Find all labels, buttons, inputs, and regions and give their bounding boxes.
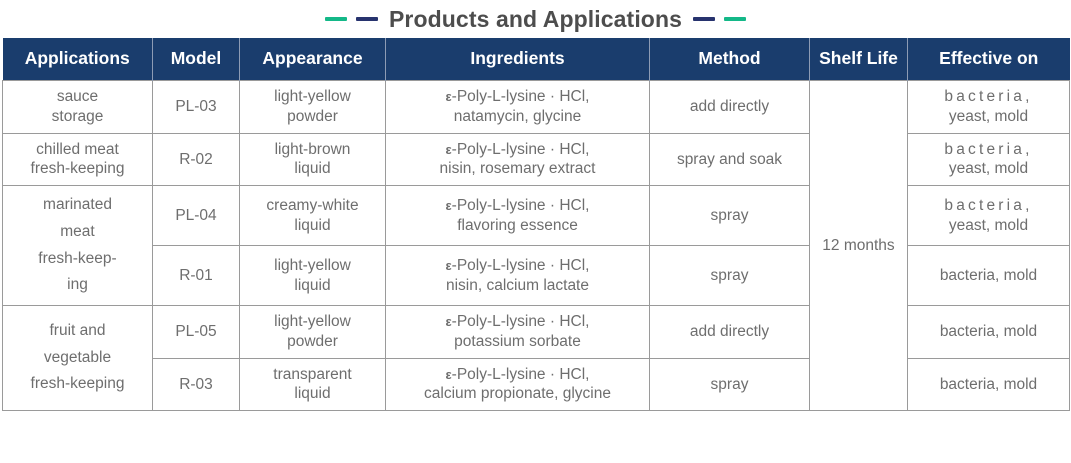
column-header-ingredients: Ingredients xyxy=(386,38,650,81)
cell-effective-on: bacteria, mold xyxy=(908,305,1070,358)
cell-effective-on: bacteria, mold xyxy=(908,246,1070,306)
cell-ingredients: ε-Poly-L-lysine · HCl,potassium sorbate xyxy=(386,305,650,358)
cell-appearance: creamy-whiteliquid xyxy=(240,186,386,246)
table-row: chilled meatfresh-keepingR-02light-brown… xyxy=(3,133,1070,186)
column-header-appearance: Appearance xyxy=(240,38,386,81)
cell-model: R-03 xyxy=(153,358,240,411)
cell-shelf-life: 12 months xyxy=(810,81,908,411)
page-title-bar: Products and Applications xyxy=(0,0,1071,38)
cell-method: spray xyxy=(650,246,810,306)
products-and-applications-table: Applications Model Appearance Ingredient… xyxy=(2,38,1070,411)
title-dash-navy-right xyxy=(693,17,715,21)
page-title: Products and Applications xyxy=(389,6,682,33)
cell-ingredients: ε-Poly-L-lysine · HCl,nisin, calcium lac… xyxy=(386,246,650,306)
title-dash-green-left xyxy=(325,17,347,21)
cell-model: PL-03 xyxy=(153,81,240,134)
cell-model: PL-04 xyxy=(153,186,240,246)
cell-appearance: light-yellowpowder xyxy=(240,81,386,134)
column-header-applications: Applications xyxy=(3,38,153,81)
cell-method: add directly xyxy=(650,81,810,134)
cell-effective-on: bacteria, mold xyxy=(908,358,1070,411)
title-dash-navy-left xyxy=(356,17,378,21)
column-header-effective-on: Effective on xyxy=(908,38,1070,81)
cell-model: R-02 xyxy=(153,133,240,186)
cell-method: spray xyxy=(650,358,810,411)
table-header-row: Applications Model Appearance Ingredient… xyxy=(3,38,1070,81)
cell-appearance: light-yellowliquid xyxy=(240,246,386,306)
cell-model: R-01 xyxy=(153,246,240,306)
cell-appearance: transparentliquid xyxy=(240,358,386,411)
table-row: saucestoragePL-03light-yellowpowderε-Pol… xyxy=(3,81,1070,134)
cell-appearance: light-brownliquid xyxy=(240,133,386,186)
table-row: R-01light-yellowliquidε-Poly-L-lysine · … xyxy=(3,246,1070,306)
column-header-method: Method xyxy=(650,38,810,81)
cell-application: fruit andvegetablefresh-keeping xyxy=(3,305,153,410)
cell-method: spray and soak xyxy=(650,133,810,186)
table-row: marinatedmeatfresh-keep-ingPL-04creamy-w… xyxy=(3,186,1070,246)
table-row: fruit andvegetablefresh-keepingPL-05ligh… xyxy=(3,305,1070,358)
table-body: saucestoragePL-03light-yellowpowderε-Pol… xyxy=(3,81,1070,411)
cell-effective-on: bacteria,yeast, mold xyxy=(908,133,1070,186)
cell-method: spray xyxy=(650,186,810,246)
cell-ingredients: ε-Poly-L-lysine · HCl,nisin, rosemary ex… xyxy=(386,133,650,186)
cell-ingredients: ε-Poly-L-lysine · HCl,flavoring essence xyxy=(386,186,650,246)
cell-effective-on: bacteria,yeast, mold xyxy=(908,186,1070,246)
cell-application: marinatedmeatfresh-keep-ing xyxy=(3,186,153,306)
cell-application: chilled meatfresh-keeping xyxy=(3,133,153,186)
cell-ingredients: ε-Poly-L-lysine · HCl,natamycin, glycine xyxy=(386,81,650,134)
column-header-shelf-life: Shelf Life xyxy=(810,38,908,81)
column-header-model: Model xyxy=(153,38,240,81)
products-table-wrapper: Applications Model Appearance Ingredient… xyxy=(0,38,1071,411)
cell-method: add directly xyxy=(650,305,810,358)
cell-appearance: light-yellowpowder xyxy=(240,305,386,358)
cell-effective-on: bacteria,yeast, mold xyxy=(908,81,1070,134)
cell-model: PL-05 xyxy=(153,305,240,358)
table-row: R-03transparentliquidε-Poly-L-lysine · H… xyxy=(3,358,1070,411)
title-dash-green-right xyxy=(724,17,746,21)
cell-application: saucestorage xyxy=(3,81,153,134)
cell-ingredients: ε-Poly-L-lysine · HCl,calcium propionate… xyxy=(386,358,650,411)
